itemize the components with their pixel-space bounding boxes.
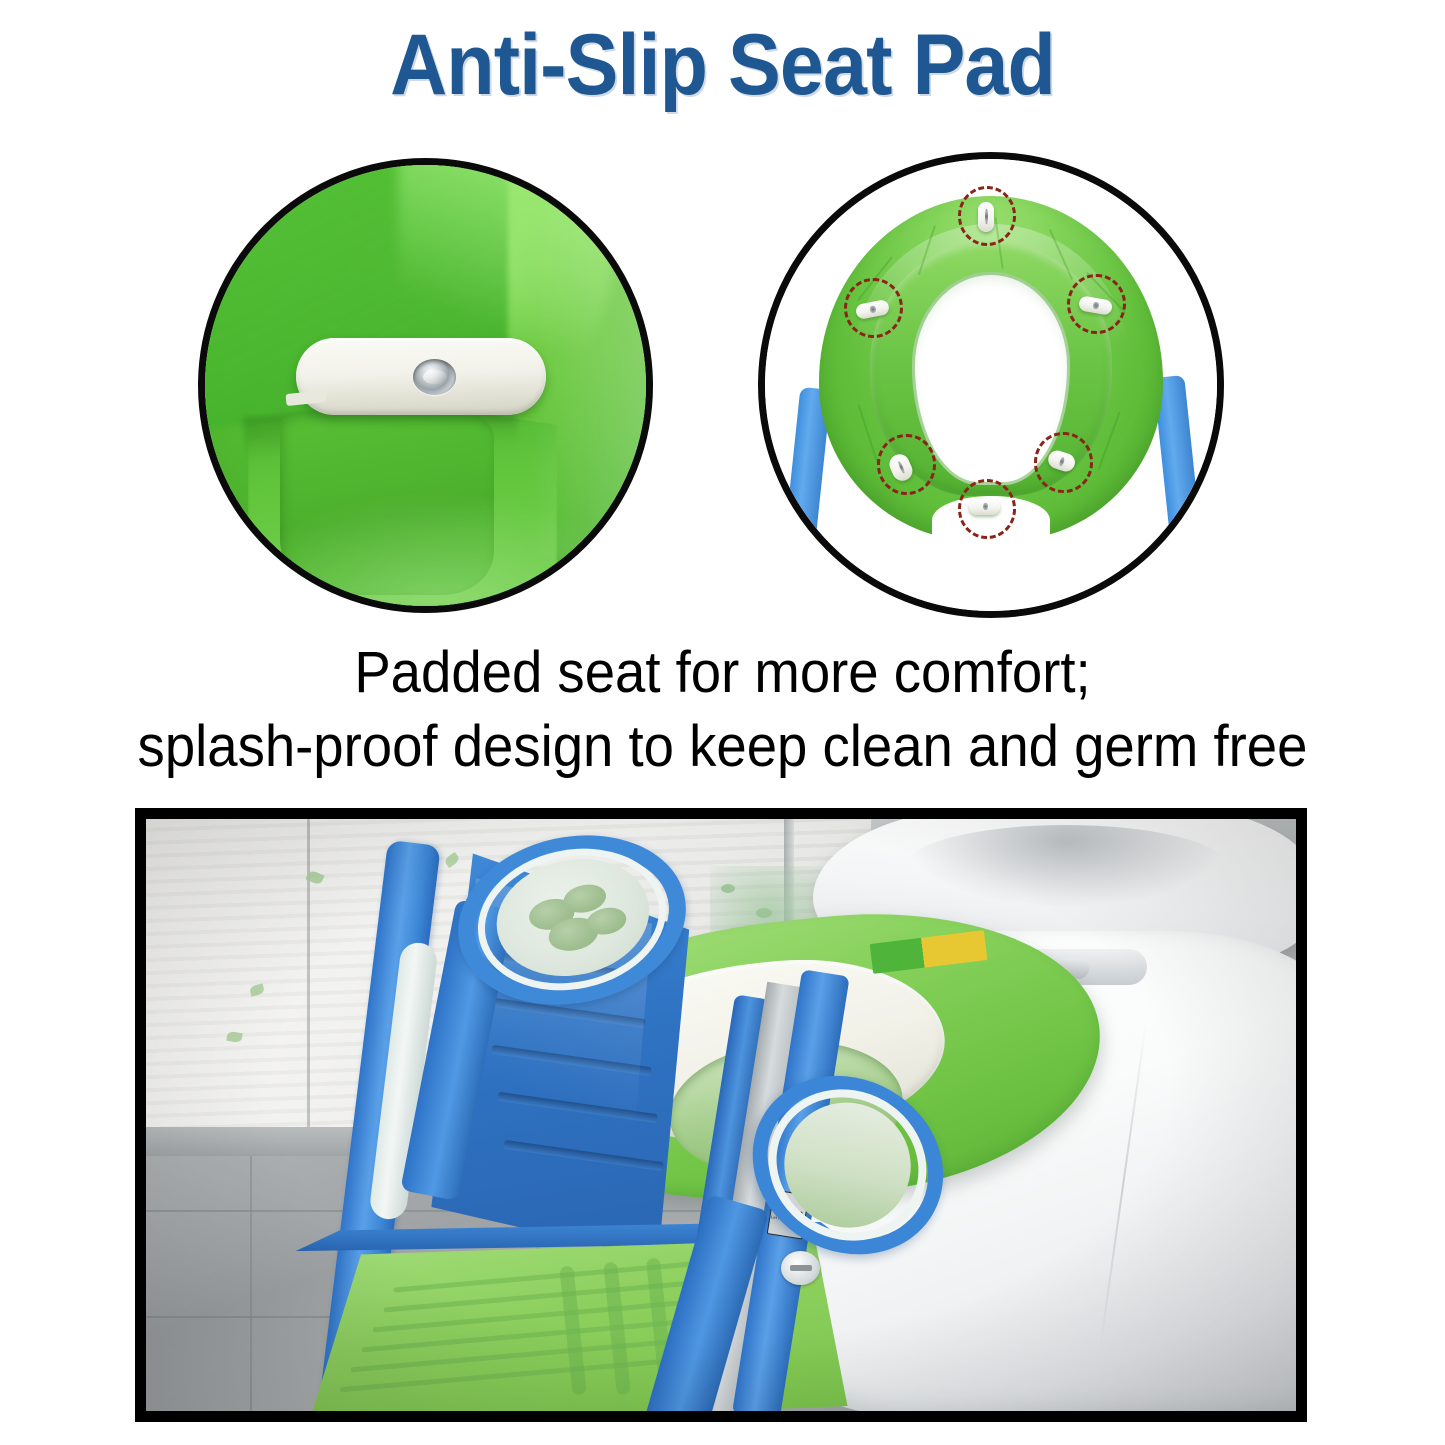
- caption-line-1: Padded seat for more comfort;: [43, 636, 1401, 710]
- anti-slip-pad-closeup-circle: [198, 158, 653, 613]
- toilet-lid-shadow: [905, 825, 1227, 908]
- product-photo: sarim Let Kids Be Kids: [146, 819, 1296, 1411]
- seat-underside-circle: [758, 152, 1224, 618]
- right-circle-content: [758, 152, 1224, 618]
- anti-slip-pad: [296, 338, 546, 415]
- page-title: Anti-Slip Seat Pad: [58, 22, 1387, 108]
- window-frame-left: [307, 819, 310, 1156]
- infographic-page: Anti-Slip Seat Pad: [0, 0, 1445, 1445]
- caption-line-2: splash-proof design to keep clean and ge…: [43, 710, 1401, 784]
- left-circle-content: [198, 158, 653, 613]
- seat-underside-stage: [795, 180, 1186, 581]
- leaf-decal: [756, 908, 772, 918]
- caption-text: Padded seat for more comfort; splash-pro…: [43, 636, 1401, 783]
- tile-grout-line: [250, 1156, 252, 1411]
- anti-slip-minipad: [969, 499, 1000, 515]
- product-photo-frame: sarim Let Kids Be Kids: [135, 808, 1307, 1422]
- handle-knob-slot: [790, 1265, 812, 1270]
- anti-slip-minipad: [978, 202, 994, 232]
- pad-screw-icon: [413, 359, 456, 395]
